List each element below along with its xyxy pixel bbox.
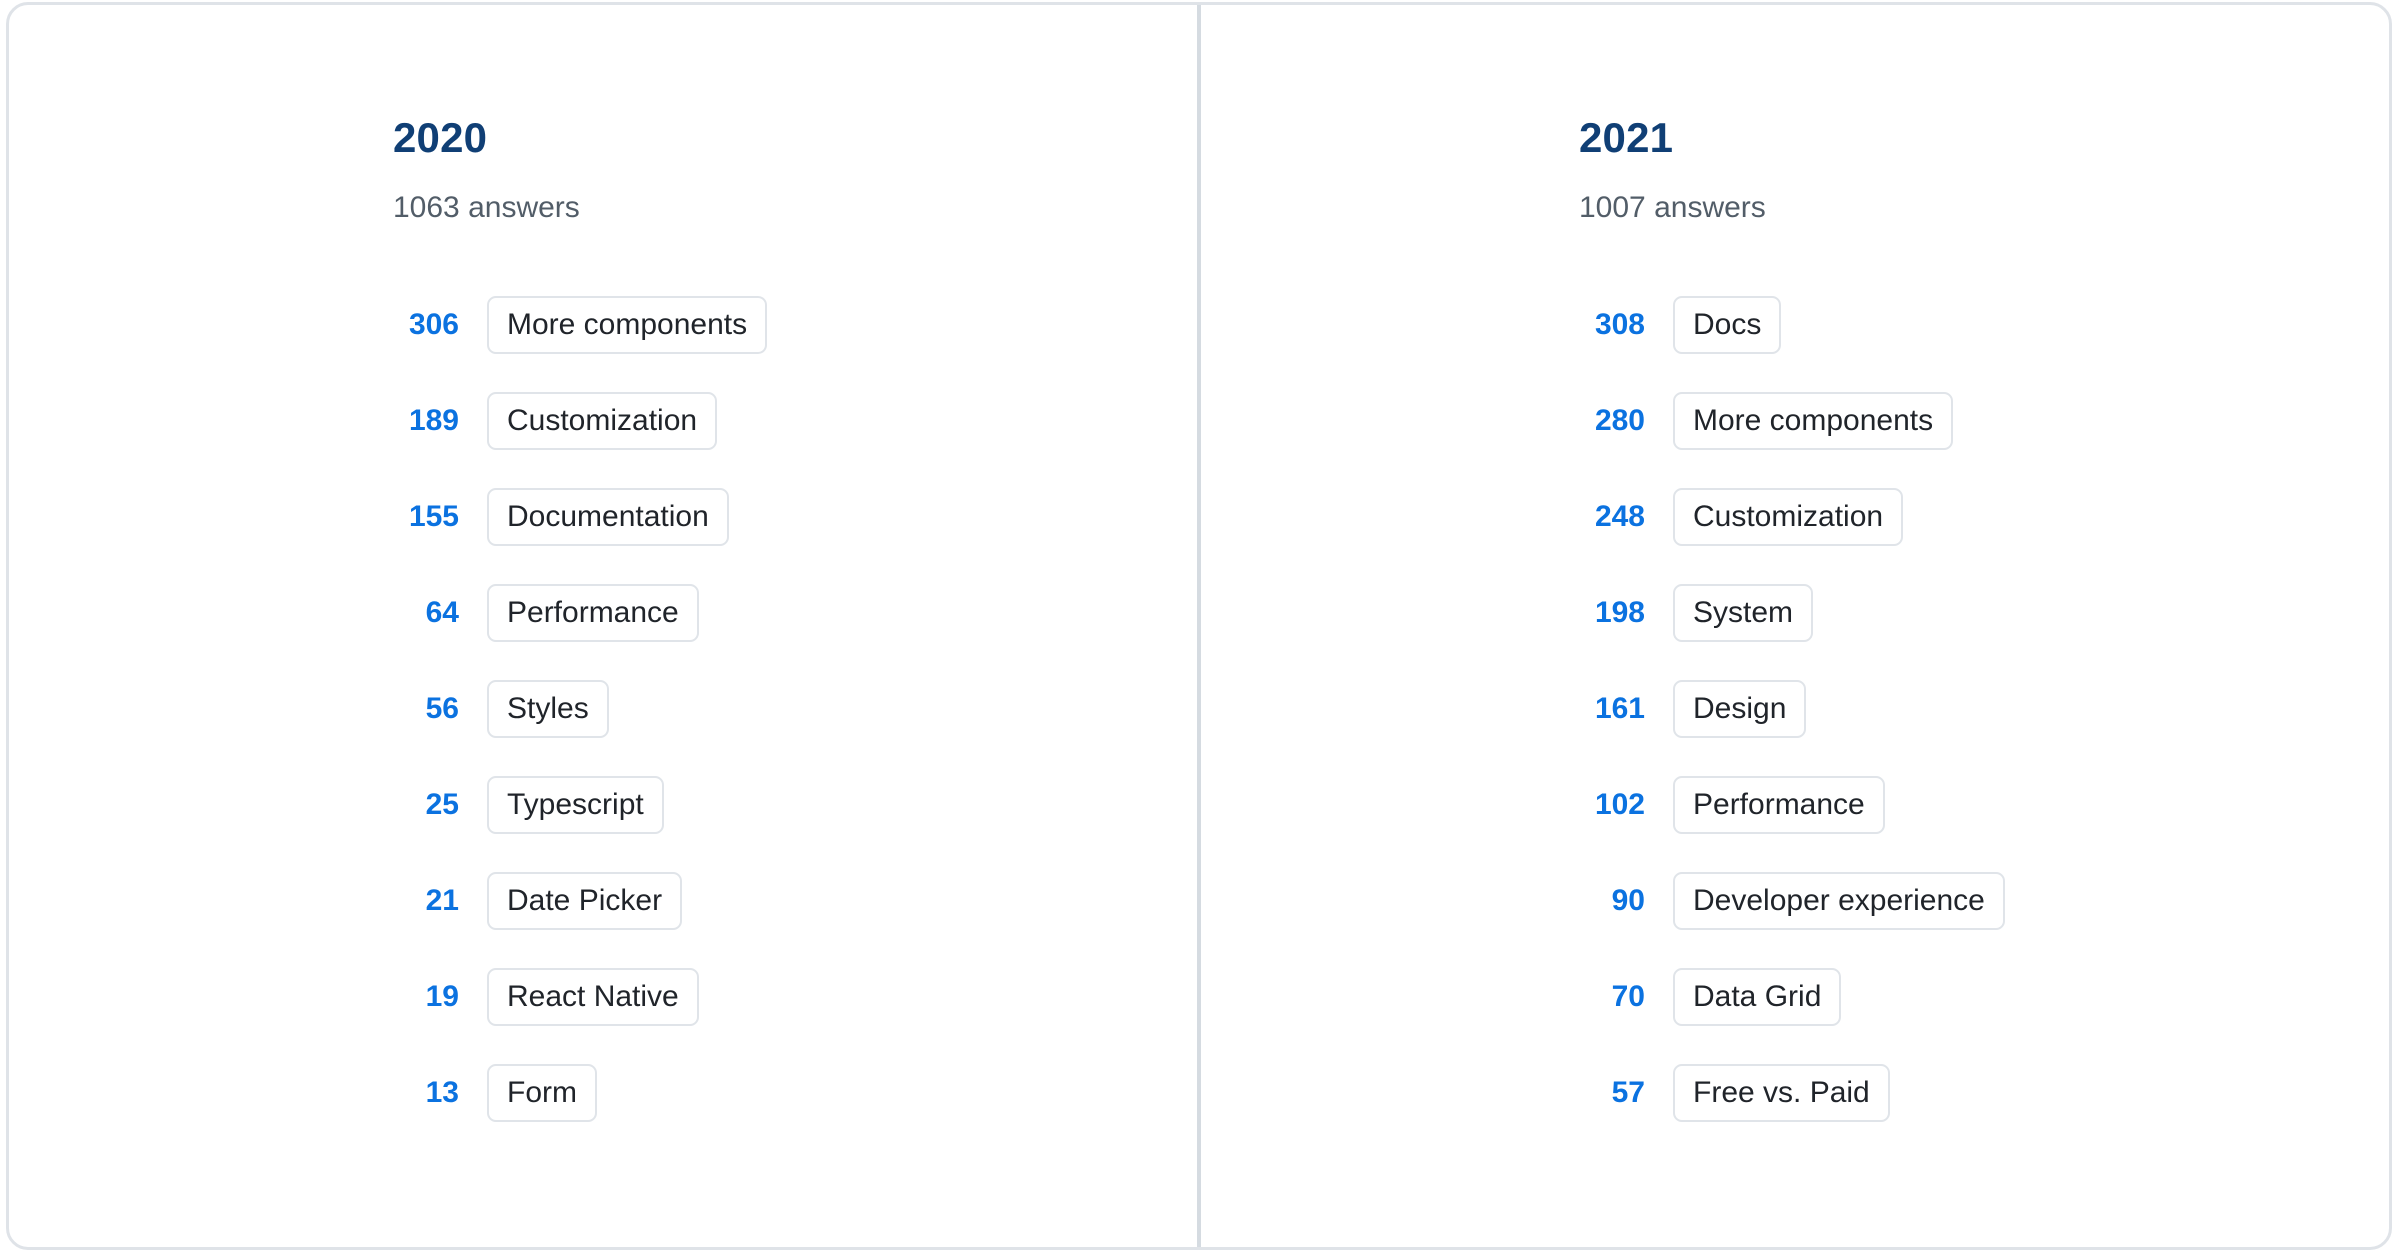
result-label-chip[interactable]: More components [1673, 392, 1953, 450]
result-count: 19 [393, 982, 459, 1012]
result-count: 280 [1579, 406, 1645, 436]
result-count: 57 [1579, 1078, 1645, 1108]
result-label-chip[interactable]: Performance [487, 584, 699, 642]
year-heading-2020: 2020 [393, 117, 487, 159]
result-list-2020: 306 More components 189 Customization 15… [393, 277, 1197, 1141]
result-label-chip[interactable]: Documentation [487, 488, 729, 546]
list-item[interactable]: 306 More components [393, 277, 1197, 373]
result-label-chip[interactable]: Typescript [487, 776, 664, 834]
result-label-chip[interactable]: More components [487, 296, 767, 354]
result-count: 13 [393, 1078, 459, 1108]
result-label-chip[interactable]: Docs [1673, 296, 1781, 354]
list-item[interactable]: 56 Styles [393, 661, 1197, 757]
result-count: 306 [393, 310, 459, 340]
column-content-2020: 2020 1063 answers 306 More components 18… [393, 5, 1197, 1247]
result-count: 248 [1579, 502, 1645, 532]
result-label-chip[interactable]: Developer experience [1673, 872, 2005, 930]
result-count: 161 [1579, 694, 1645, 724]
year-column-2021: 2021 1007 answers 308 Docs 280 More comp… [1197, 5, 2389, 1247]
year-heading-2021: 2021 [1579, 117, 1673, 159]
result-label-chip[interactable]: Customization [1673, 488, 1903, 546]
answers-count-2021: 1007 answers [1579, 193, 1766, 223]
list-item[interactable]: 90 Developer experience [1579, 853, 2389, 949]
result-count: 155 [393, 502, 459, 532]
list-item[interactable]: 57 Free vs. Paid [1579, 1045, 2389, 1141]
year-column-2020: 2020 1063 answers 306 More components 18… [9, 5, 1197, 1247]
result-count: 308 [1579, 310, 1645, 340]
result-label-chip[interactable]: Form [487, 1064, 597, 1122]
result-label-chip[interactable]: Performance [1673, 776, 1885, 834]
list-item[interactable]: 280 More components [1579, 373, 2389, 469]
result-count: 102 [1579, 790, 1645, 820]
result-count: 56 [393, 694, 459, 724]
result-count: 21 [393, 886, 459, 916]
answers-count-2020: 1063 answers [393, 193, 580, 223]
results-card: 2020 1063 answers 306 More components 18… [6, 2, 2392, 1250]
result-count: 70 [1579, 982, 1645, 1012]
list-item[interactable]: 198 System [1579, 565, 2389, 661]
result-list-2021: 308 Docs 280 More components 248 Customi… [1579, 277, 2389, 1141]
result-count: 64 [393, 598, 459, 628]
list-item[interactable]: 161 Design [1579, 661, 2389, 757]
list-item[interactable]: 189 Customization [393, 373, 1197, 469]
result-count: 189 [393, 406, 459, 436]
list-item[interactable]: 25 Typescript [393, 757, 1197, 853]
result-count: 198 [1579, 598, 1645, 628]
list-item[interactable]: 21 Date Picker [393, 853, 1197, 949]
column-content-2021: 2021 1007 answers 308 Docs 280 More comp… [1579, 5, 2389, 1247]
list-item[interactable]: 155 Documentation [393, 469, 1197, 565]
list-item[interactable]: 19 React Native [393, 949, 1197, 1045]
list-item[interactable]: 308 Docs [1579, 277, 2389, 373]
result-label-chip[interactable]: Date Picker [487, 872, 682, 930]
result-label-chip[interactable]: System [1673, 584, 1813, 642]
result-label-chip[interactable]: Free vs. Paid [1673, 1064, 1890, 1122]
result-label-chip[interactable]: Design [1673, 680, 1806, 738]
result-count: 25 [393, 790, 459, 820]
list-item[interactable]: 13 Form [393, 1045, 1197, 1141]
result-label-chip[interactable]: Customization [487, 392, 717, 450]
list-item[interactable]: 102 Performance [1579, 757, 2389, 853]
result-label-chip[interactable]: Data Grid [1673, 968, 1841, 1026]
list-item[interactable]: 248 Customization [1579, 469, 2389, 565]
result-label-chip[interactable]: React Native [487, 968, 699, 1026]
list-item[interactable]: 64 Performance [393, 565, 1197, 661]
list-item[interactable]: 70 Data Grid [1579, 949, 2389, 1045]
result-count: 90 [1579, 886, 1645, 916]
result-label-chip[interactable]: Styles [487, 680, 609, 738]
